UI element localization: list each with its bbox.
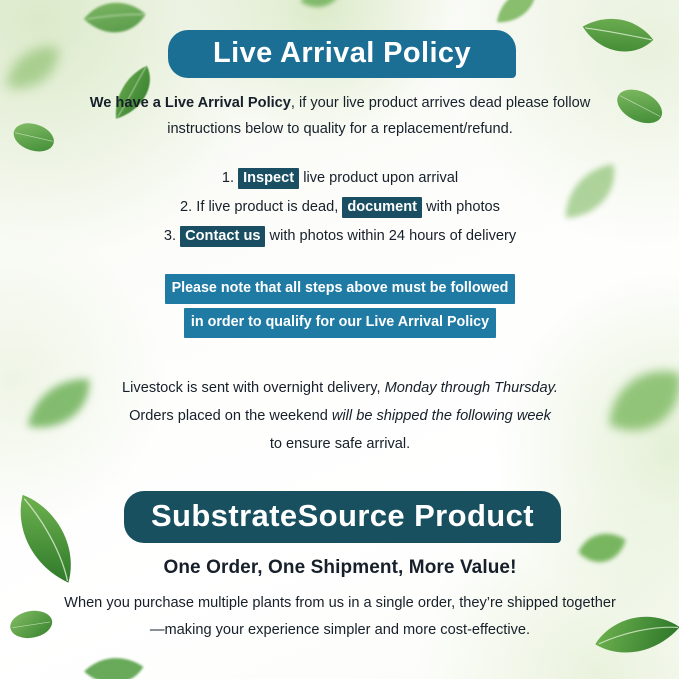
ship-line3: to ensure safe arrival. [270, 436, 410, 452]
ship-line2-italic: will be shipped the following week [332, 408, 551, 424]
steps-list: 1. Inspect live product upon arrival 2. … [60, 164, 620, 251]
ship-line2: Orders placed on the weekend [129, 408, 328, 424]
shipping-schedule-paragraph: Livestock is sent with overnight deliver… [60, 374, 620, 458]
substrate-source-product-banner: SubstrateSource Product [124, 491, 561, 543]
step-highlight-document: document [342, 197, 422, 218]
note-line-1: Please note that all steps above must be… [165, 274, 516, 304]
intro-lead: We have a Live Arrival Policy [90, 95, 291, 111]
list-item: 3. Contact us with photos within 24 hour… [60, 222, 620, 251]
step-number: 2. [180, 199, 192, 215]
step-highlight-contact-us: Contact us [180, 226, 265, 247]
note-row: Please note that all steps above must be… [60, 274, 620, 304]
leaf-icon [487, 0, 547, 33]
step-number: 1. [222, 170, 234, 186]
note-row: in order to qualify for our Live Arrival… [60, 308, 620, 338]
step-text: with photos within 24 hours of delivery [270, 228, 517, 244]
leaf-icon [76, 0, 152, 54]
step-number: 3. [164, 228, 176, 244]
leaf-icon [298, 0, 342, 17]
leaf-icon [2, 596, 60, 651]
closing-paragraph: When you purchase multiple plants from u… [60, 590, 620, 644]
promotional-infographic: Live Arrival Policy We have a Live Arriv… [0, 0, 679, 679]
ship-line1-italic: Monday through Thursday. [385, 380, 558, 396]
leaf-icon [79, 643, 147, 679]
step-text: with photos [426, 199, 500, 215]
intro-paragraph: We have a Live Arrival Policy, if your l… [60, 90, 620, 142]
ship-line1: Livestock is sent with overnight deliver… [122, 380, 380, 396]
leaf-icon [572, 0, 659, 76]
list-item: 1. Inspect live product upon arrival [60, 164, 620, 193]
list-item: 2. If live product is dead, document wit… [60, 193, 620, 222]
note-line-2: in order to qualify for our Live Arrival… [184, 308, 496, 338]
live-arrival-policy-banner: Live Arrival Policy [168, 30, 516, 78]
step-text-before: If live product is dead, [196, 199, 338, 215]
step-highlight-inspect: Inspect [238, 168, 299, 189]
value-tagline: One Order, One Shipment, More Value! [60, 557, 620, 579]
step-text: live product upon arrival [303, 170, 458, 186]
leaf-icon [5, 110, 62, 165]
policy-note-block: Please note that all steps above must be… [60, 274, 620, 342]
